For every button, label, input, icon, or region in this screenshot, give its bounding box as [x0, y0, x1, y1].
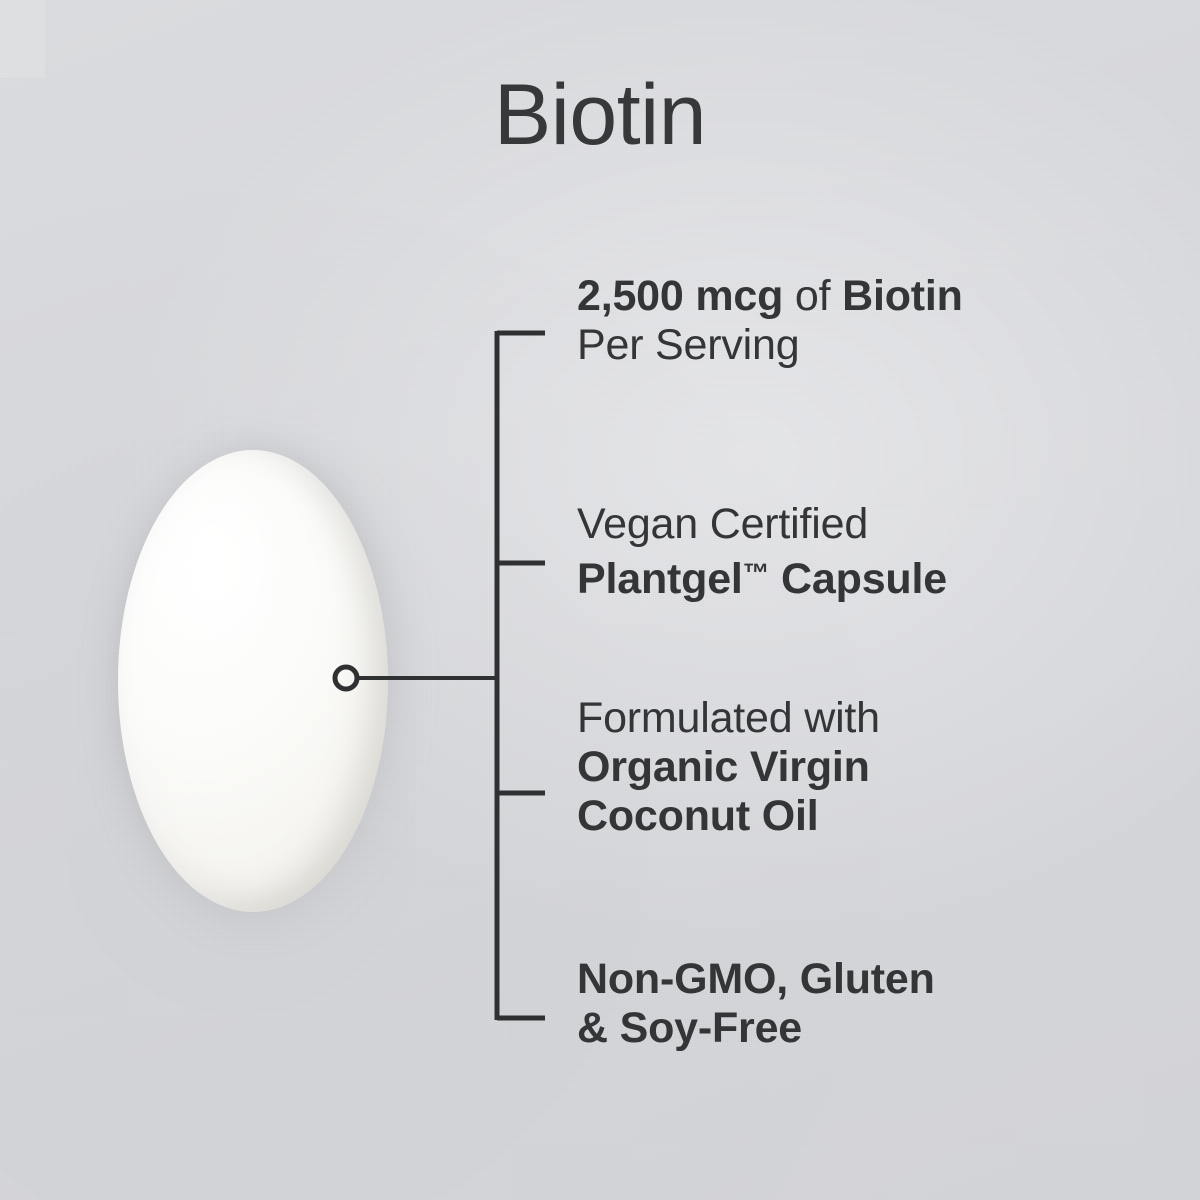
feature-free-from: Non-GMO, Gluten& Soy-Free [577, 955, 1107, 1053]
feature-text: Biotin [842, 272, 963, 320]
feature-text: Per Serving [577, 321, 799, 369]
product-infographic: Biotin 2,500 mcg of BiotinPer Serving Ve… [0, 0, 1200, 1200]
feature-text: Vegan Certified [577, 500, 868, 548]
feature-text: Coconut Oil [577, 792, 818, 840]
feature-text: of [795, 272, 842, 320]
feature-text: Organic Virgin [577, 743, 870, 791]
feature-text: Formulated with [577, 694, 880, 742]
feature-line: Per Serving [577, 321, 1107, 370]
capsule-image [110, 442, 400, 922]
feature-dosage: 2,500 mcg of BiotinPer Serving [577, 272, 1107, 370]
trademark-symbol: ™ [743, 558, 770, 588]
feature-text: Capsule [769, 555, 947, 603]
feature-text: Plantgel [577, 555, 743, 603]
capsule-body [118, 450, 388, 912]
feature-line: Vegan Certified [577, 500, 1107, 549]
feature-line: & Soy-Free [577, 1004, 1107, 1053]
feature-line: Formulated with [577, 694, 1107, 743]
feature-text: & Soy-Free [577, 1004, 802, 1052]
feature-line: Coconut Oil [577, 792, 1107, 841]
feature-line: Plantgel™ Capsule [577, 549, 1107, 604]
feature-text: Non-GMO, Gluten [577, 955, 935, 1003]
corner-swatch [0, 0, 45, 78]
capsule-highlight [156, 492, 306, 692]
feature-line: 2,500 mcg of Biotin [577, 272, 1107, 321]
feature-capsule-type: Vegan CertifiedPlantgel™ Capsule [577, 500, 1107, 604]
page-title: Biotin [0, 72, 1200, 158]
feature-line: Organic Virgin [577, 743, 1107, 792]
feature-formulation: Formulated withOrganic VirginCoconut Oil [577, 694, 1107, 841]
feature-text: 2,500 mcg [577, 272, 795, 320]
feature-line: Non-GMO, Gluten [577, 955, 1107, 1004]
